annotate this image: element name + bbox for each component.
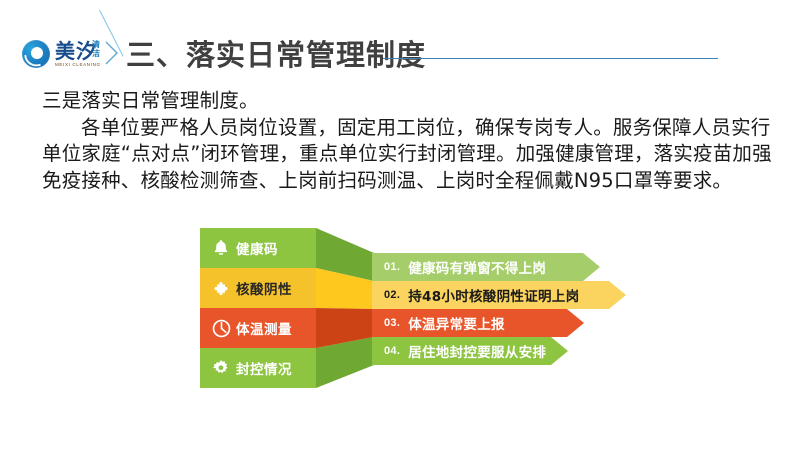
- diagram-category-label: 健康码: [236, 238, 278, 258]
- body-lead-line: 三是落实日常管理制度。: [42, 88, 772, 115]
- diagram-item-4[interactable]: 04.居住地封控要服从安排: [372, 337, 568, 365]
- diagram-category-3[interactable]: 体温测量: [200, 308, 316, 348]
- diagram-item-label: 体温异常要上报: [408, 313, 505, 333]
- puzzle-icon: [206, 278, 236, 299]
- diagram-category-1[interactable]: 健康码: [200, 228, 316, 268]
- clock-icon: [206, 318, 236, 339]
- bell-icon: [206, 238, 236, 258]
- header-underline: [383, 58, 718, 59]
- gear-icon: [206, 358, 236, 378]
- diagram-category-4[interactable]: 封控情况: [200, 348, 316, 388]
- diagram-category-2[interactable]: 核酸阴性: [200, 268, 316, 308]
- diagram-item-number: 04.: [384, 345, 400, 357]
- requirements-funnel-diagram: 健康码核酸阴性体温测量封控情况 01.健康码有弹窗不得上岗02.持48小时核酸阴…: [186, 228, 626, 393]
- slide-header: 美汐 清洁 MEIXI CLEANING 三、落实日常管理制度: [0, 0, 800, 88]
- brand-logo-icon: [22, 40, 50, 68]
- diagram-item-1[interactable]: 01.健康码有弹窗不得上岗: [372, 253, 600, 281]
- diagram-item-number: 02.: [384, 289, 400, 301]
- logo-swish: [24, 53, 41, 68]
- diagram-category-label: 核酸阴性: [236, 278, 292, 298]
- brand-name-en: MEIXI CLEANING: [55, 62, 101, 67]
- diagram-category-column: 健康码核酸阴性体温测量封控情况: [200, 228, 316, 388]
- diagram-category-label: 体温测量: [236, 318, 292, 338]
- brand-subname-cn: 清洁: [92, 40, 104, 58]
- diagram-item-3[interactable]: 03.体温异常要上报: [372, 309, 584, 337]
- diagram-item-label: 健康码有弹窗不得上岗: [408, 257, 546, 277]
- body-paragraph: 各单位要严格人员岗位设置，固定用工岗位，确保专岗专人。服务保障人员实行单位家庭“…: [42, 115, 772, 195]
- page-title: 三、落实日常管理制度: [126, 32, 426, 74]
- body-text-block: 三是落实日常管理制度。 各单位要严格人员岗位设置，固定用工岗位，确保专岗专人。服…: [42, 88, 772, 194]
- brand-name-cn: 美汐: [55, 40, 97, 62]
- diagram-item-number: 03.: [384, 317, 400, 329]
- diagram-item-label: 居住地封控要服从安排: [408, 341, 546, 361]
- diagram-item-label: 持48小时核酸阴性证明上岗: [408, 285, 579, 305]
- diagram-funnel-connector: [316, 228, 374, 388]
- diagram-item-column: 01.健康码有弹窗不得上岗02.持48小时核酸阴性证明上岗03.体温异常要上报0…: [372, 253, 626, 365]
- diagram-category-label: 封控情况: [236, 358, 292, 378]
- chevron-right-icon: [104, 40, 120, 66]
- diagram-item-number: 01.: [384, 261, 400, 273]
- diagram-item-2[interactable]: 02.持48小时核酸阴性证明上岗: [372, 281, 626, 309]
